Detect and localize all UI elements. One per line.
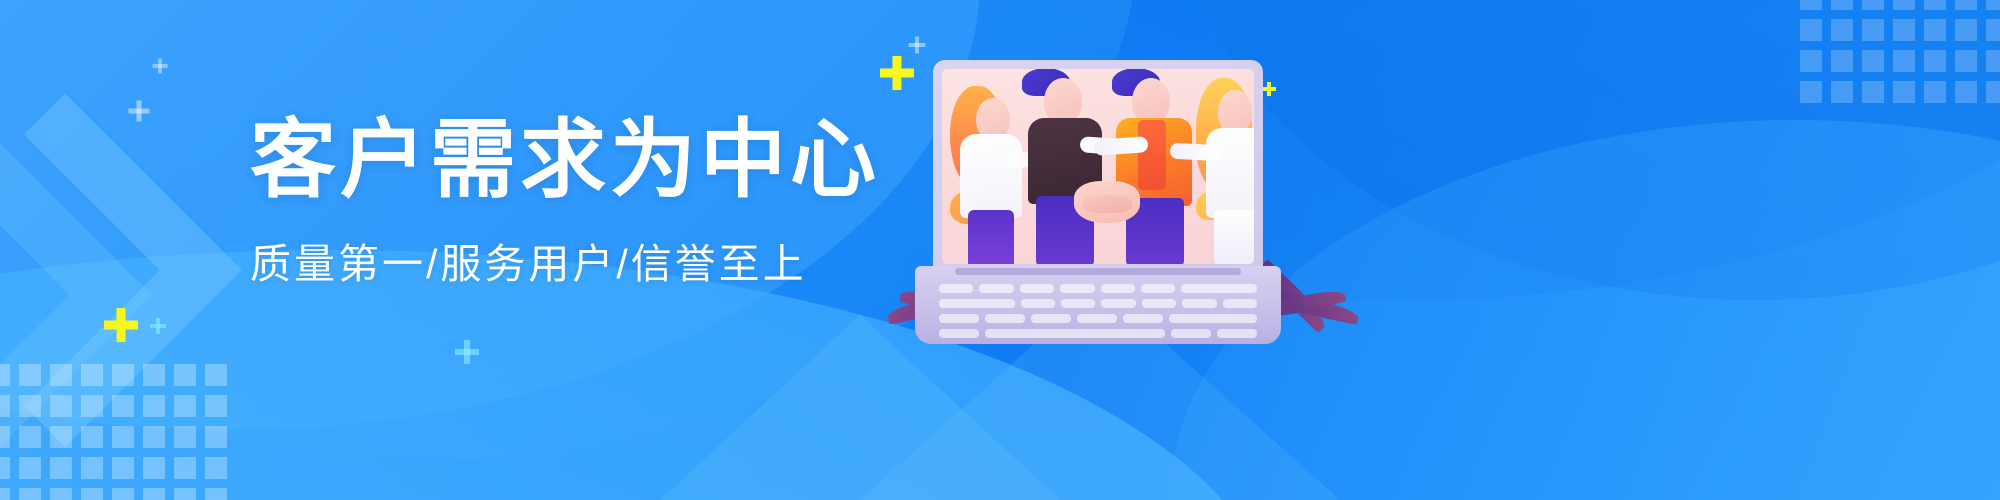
dot-grid-bottom-left xyxy=(0,364,227,500)
plus-white-small-1-icon xyxy=(908,36,925,53)
person-3 xyxy=(1112,69,1204,264)
person-4-torso xyxy=(1206,128,1254,218)
banner-headline: 客户需求为中心 xyxy=(250,112,870,208)
keyboard-row-1 xyxy=(939,284,1257,293)
keyboard-row-2 xyxy=(939,299,1257,308)
plus-yellow-large-top-icon xyxy=(880,56,914,90)
laptop-hinge xyxy=(955,268,1241,275)
joined-hands xyxy=(1074,181,1140,223)
laptop-screen xyxy=(942,69,1254,264)
plus-white-small-2-icon xyxy=(152,58,167,73)
person-1-torso xyxy=(960,134,1022,218)
laptop-illustration xyxy=(915,60,1315,360)
person-4-arm xyxy=(1170,143,1223,162)
laptop-lid xyxy=(933,60,1263,272)
promo-banner: 客户需求为中心 质量第一/服务用户/信誉至上 xyxy=(0,0,2000,500)
person-3-shirt xyxy=(1138,120,1166,190)
plus-cyan-small-1-icon xyxy=(150,318,166,334)
person-4-legs xyxy=(1214,210,1254,264)
laptop-base xyxy=(915,266,1281,344)
keyboard-row-3 xyxy=(939,314,1257,323)
person-2 xyxy=(1022,69,1114,264)
plus-cyan-small-2-icon xyxy=(455,340,479,364)
banner-subtitle: 质量第一/服务用户/信誉至上 xyxy=(250,230,870,290)
person-1-legs xyxy=(968,210,1014,264)
dot-grid-top-right xyxy=(1800,0,2000,103)
keyboard-row-4 xyxy=(939,329,1257,338)
plus-white-small-3-icon xyxy=(128,100,149,121)
banner-copy: 客户需求为中心 质量第一/服务用户/信誉至上 xyxy=(250,112,870,290)
person-4 xyxy=(1196,78,1254,264)
plus-yellow-large-bottom-icon xyxy=(104,308,138,342)
